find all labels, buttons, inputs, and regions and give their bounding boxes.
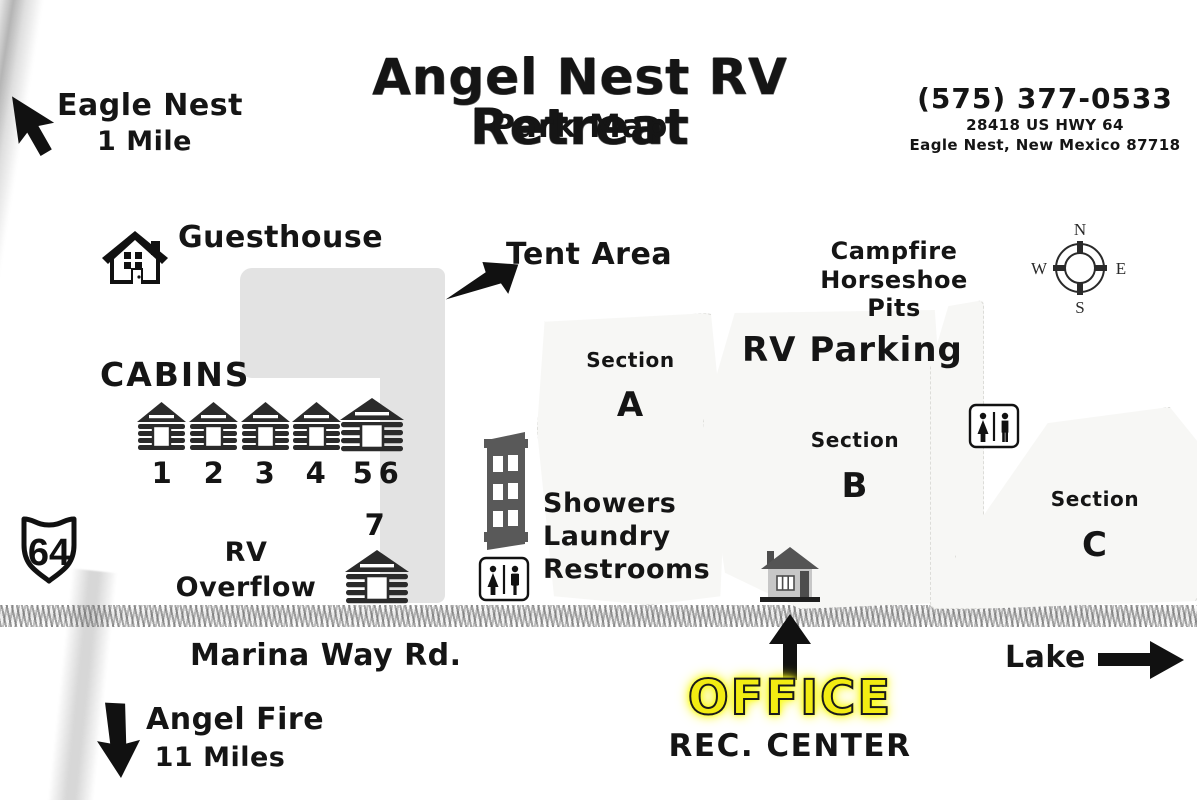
page-subtitle: Park Map xyxy=(270,110,890,142)
cabin-number-1: 1 xyxy=(140,456,184,490)
compass-east-label: E xyxy=(1116,259,1126,278)
bathhouse-label-restrooms: Restrooms xyxy=(543,554,710,585)
section-a-letter: A xyxy=(537,385,724,425)
address-line-2: Eagle Nest, New Mexico 87718 xyxy=(900,136,1190,154)
section-c-letter: C xyxy=(1000,525,1190,565)
log-cabin-icon xyxy=(344,548,410,604)
office-label[interactable]: OFFICE xyxy=(660,670,920,726)
bathhouse-label-laundry: Laundry xyxy=(543,521,671,552)
log-cabin-icon xyxy=(188,400,239,452)
log-cabin-icon xyxy=(136,400,187,452)
cabins-label: CABINS xyxy=(100,355,251,394)
cabin-number-7: 7 xyxy=(353,508,397,542)
rec-center-label: REC. CENTER xyxy=(660,728,920,764)
office-house-icon xyxy=(757,543,823,605)
restroom-icon xyxy=(478,556,530,602)
lake-arrow-icon xyxy=(1098,640,1186,680)
restroom-icon xyxy=(968,403,1020,449)
rv-parking-label: RV Parking xyxy=(742,330,963,370)
lake-label: Lake xyxy=(1005,640,1086,675)
compass-rose: N S E W xyxy=(1025,218,1135,318)
section-a-word: Section xyxy=(537,348,724,372)
marina-way-road-band xyxy=(0,605,1197,627)
log-cabin-icon xyxy=(291,400,342,452)
eagle-nest-distance: 1 Mile xyxy=(57,126,232,157)
phone-number[interactable]: (575) 377-0533 xyxy=(900,82,1190,115)
us-route-shield-number: 64 xyxy=(28,532,70,574)
section-b-letter: B xyxy=(760,466,950,506)
cabin-number-2: 2 xyxy=(192,456,236,490)
compass-west-label: W xyxy=(1031,259,1048,278)
section-b-word: Section xyxy=(760,428,950,452)
section-c-word: Section xyxy=(1000,487,1190,511)
house-icon xyxy=(100,228,170,288)
campfire-label-line1: Campfire xyxy=(800,237,988,265)
compass-south-label: S xyxy=(1075,298,1084,317)
guesthouse-label: Guesthouse xyxy=(178,220,383,255)
bathhouse-label-showers: Showers xyxy=(543,488,676,519)
marina-way-road-label: Marina Way Rd. xyxy=(190,638,462,673)
campfire-label-line2: Horseshoe Pits xyxy=(800,266,988,322)
rv-overflow-label-line2: Overflow xyxy=(175,572,317,603)
cabin-number-6: 6 xyxy=(367,456,411,490)
us-route-64-shield: 64 xyxy=(14,513,84,587)
log-cabin-icon-duplex xyxy=(339,396,405,452)
angel-fire-label: Angel Fire xyxy=(146,702,324,737)
rv-overflow-label-line1: RV xyxy=(175,537,317,568)
compass-north-label: N xyxy=(1074,220,1086,239)
tent-area-label: Tent Area xyxy=(506,237,672,272)
address-line-1: 28418 US HWY 64 xyxy=(900,116,1190,134)
eagle-nest-label: Eagle Nest xyxy=(57,88,243,123)
log-cabin-icon xyxy=(240,400,291,452)
building-icon xyxy=(484,432,528,550)
park-map-canvas: Angel Nest RV Retreat Park Map (575) 377… xyxy=(0,0,1197,800)
cabin-number-4: 4 xyxy=(294,456,338,490)
cabin-number-3: 3 xyxy=(243,456,287,490)
angel-fire-distance: 11 Miles xyxy=(146,742,294,773)
angel-fire-arrow-icon xyxy=(93,700,145,780)
